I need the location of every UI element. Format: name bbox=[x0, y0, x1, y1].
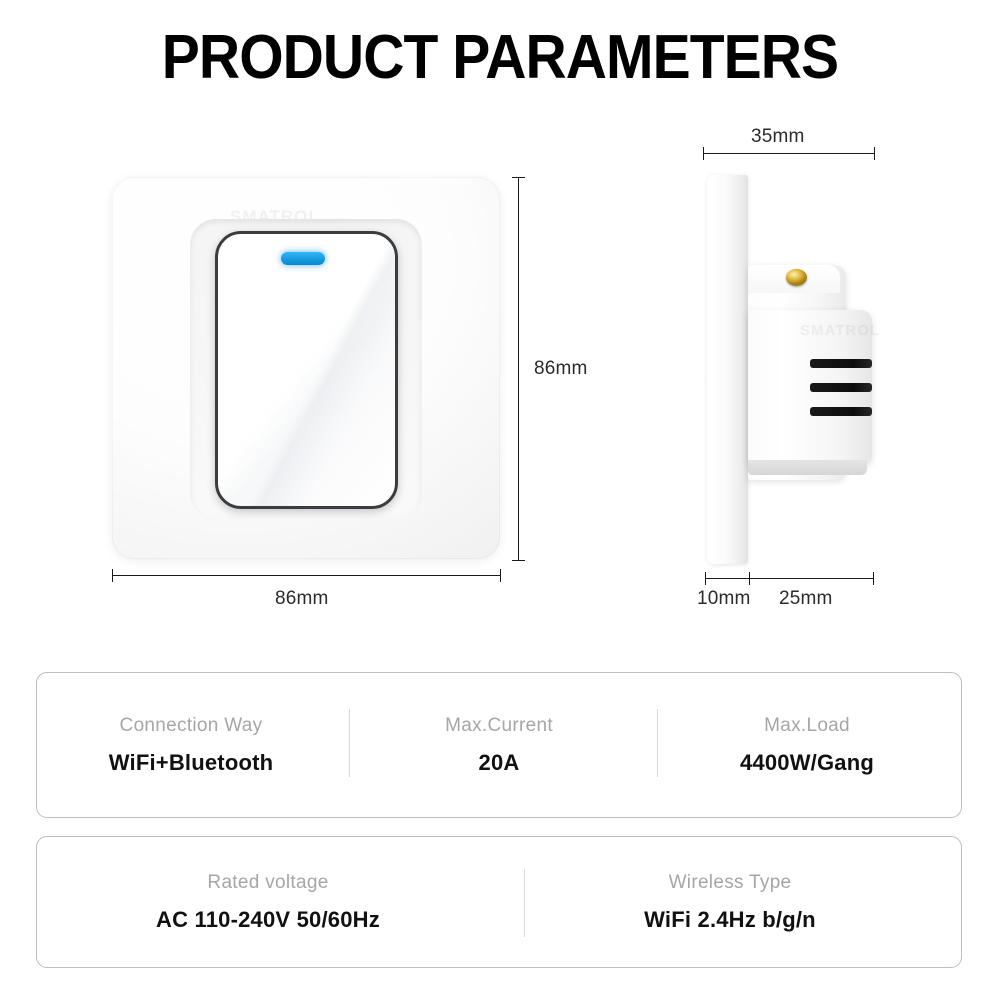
spec-divider bbox=[524, 869, 525, 937]
vent-slot bbox=[810, 359, 872, 368]
spec-cell-max-load: Max.Load 4400W/Gang bbox=[653, 715, 961, 776]
vent-slot bbox=[810, 383, 872, 392]
vent-slot bbox=[810, 407, 872, 416]
product-parameters-page: PRODUCT PARAMETERS SMATROL SMATROL 86mm … bbox=[0, 0, 1000, 1000]
side-depth-label: 35mm bbox=[751, 126, 805, 148]
dimension-cap-right bbox=[500, 569, 501, 582]
mounting-screw bbox=[786, 269, 807, 286]
front-height-dimension-line bbox=[518, 177, 519, 560]
dimension-cap-bottom bbox=[512, 560, 525, 561]
spec-cell-wireless-type: Wireless Type WiFi 2.4Hz b/g/n bbox=[499, 872, 961, 933]
dimension-cap-left bbox=[112, 569, 113, 582]
led-indicator bbox=[281, 252, 325, 265]
dimension-cap-top bbox=[512, 177, 525, 178]
spec-value: 20A bbox=[351, 750, 647, 776]
brand-watermark: SMATROL bbox=[800, 322, 880, 339]
spec-value: 4400W/Gang bbox=[659, 750, 955, 776]
spec-value: AC 110-240V 50/60Hz bbox=[43, 907, 493, 933]
spec-label: Rated voltage bbox=[43, 872, 493, 894]
side-body-housing: SMATROL bbox=[748, 310, 872, 465]
spec-divider bbox=[657, 709, 658, 777]
rocker-highlight bbox=[218, 234, 395, 506]
spec-value: WiFi+Bluetooth bbox=[43, 750, 339, 776]
front-width-dimension-line bbox=[112, 575, 500, 576]
switch-rocker-button[interactable] bbox=[215, 231, 398, 509]
side-body-base bbox=[748, 460, 867, 475]
switch-front-faceplate: SMATROL SMATROL bbox=[112, 177, 500, 559]
side-bottom-dimension-line bbox=[705, 578, 873, 579]
spec-label: Max.Load bbox=[659, 715, 955, 737]
page-title: PRODUCT PARAMETERS bbox=[40, 22, 960, 93]
switch-side-profile: SMATROL bbox=[690, 170, 910, 570]
dimension-cap-left bbox=[703, 147, 704, 160]
dimension-cap-right bbox=[874, 147, 875, 160]
side-plate-thickness-label: 10mm bbox=[697, 588, 751, 610]
spec-panel-primary: Connection Way WiFi+Bluetooth Max.Curren… bbox=[36, 672, 962, 818]
spec-panel-secondary: Rated voltage AC 110-240V 50/60Hz Wirele… bbox=[36, 836, 962, 968]
spec-value: WiFi 2.4Hz b/g/n bbox=[505, 907, 955, 933]
spec-row: Rated voltage AC 110-240V 50/60Hz Wirele… bbox=[37, 837, 961, 967]
front-height-label: 86mm bbox=[534, 358, 588, 380]
dimension-cap-left bbox=[705, 572, 706, 585]
spec-label: Max.Current bbox=[351, 715, 647, 737]
spec-cell-rated-voltage: Rated voltage AC 110-240V 50/60Hz bbox=[37, 872, 499, 933]
spec-label: Connection Way bbox=[43, 715, 339, 737]
spec-cell-max-current: Max.Current 20A bbox=[345, 715, 653, 776]
spec-label: Wireless Type bbox=[505, 872, 955, 894]
dimension-cap-right bbox=[873, 572, 874, 585]
dimension-cap-middle bbox=[749, 572, 750, 585]
spec-cell-connection-way: Connection Way WiFi+Bluetooth bbox=[37, 715, 345, 776]
front-width-label: 86mm bbox=[275, 588, 329, 610]
spec-divider bbox=[349, 709, 350, 777]
side-depth-dimension-line bbox=[703, 153, 874, 154]
side-body-depth-label: 25mm bbox=[779, 588, 833, 610]
spec-row: Connection Way WiFi+Bluetooth Max.Curren… bbox=[37, 673, 961, 817]
side-faceplate-edge bbox=[707, 175, 748, 564]
